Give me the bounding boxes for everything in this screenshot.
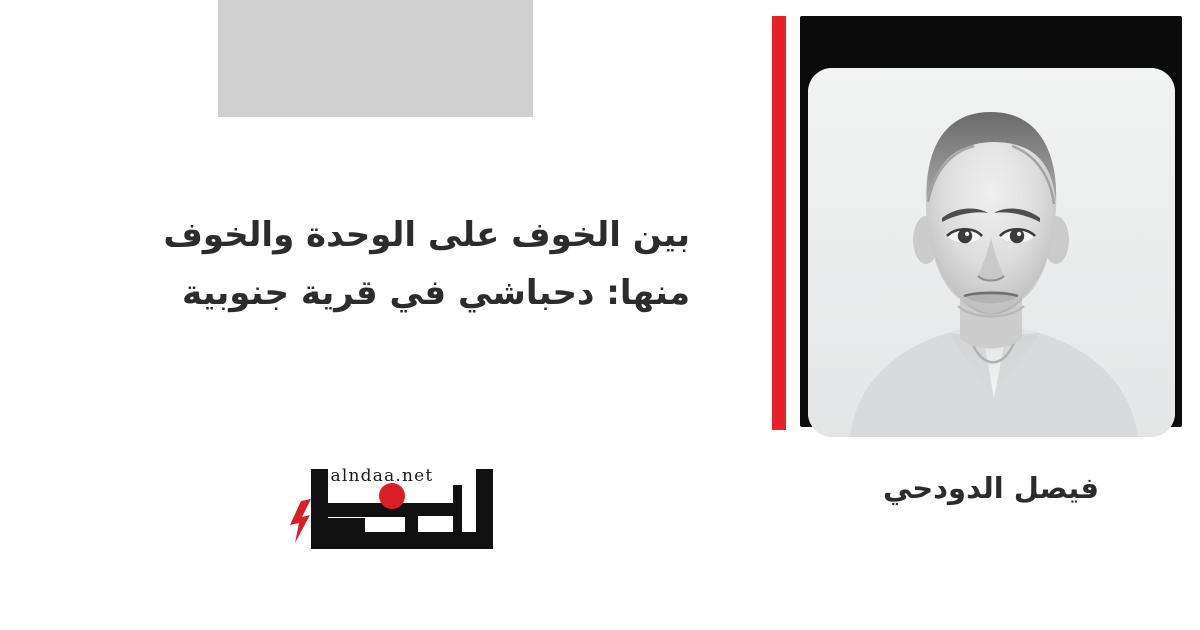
red-accent-bar (772, 16, 786, 430)
author-portrait (808, 68, 1175, 437)
logo-domain-text: alndaa.net (331, 466, 434, 486)
logo-red-dot-icon (379, 483, 405, 509)
author-portrait-graphic (808, 68, 1175, 437)
headline-line-1: بين الخوف على الوحدة والخوف (110, 206, 690, 264)
lightning-bolt-icon (290, 499, 311, 543)
author-byline: فيصل الدودحي (800, 470, 1182, 508)
site-logo[interactable]: alndaa.net (277, 455, 527, 555)
headline-line-2: منها: دحباشي في قرية جنوبية (110, 264, 690, 322)
site-logo-graphic: alndaa.net (277, 455, 527, 555)
article-headline: بين الخوف على الوحدة والخوف منها: دحباشي… (110, 206, 690, 323)
article-card: بين الخوف على الوحدة والخوف منها: دحباشي… (0, 0, 1200, 630)
image-placeholder-block (218, 0, 533, 117)
